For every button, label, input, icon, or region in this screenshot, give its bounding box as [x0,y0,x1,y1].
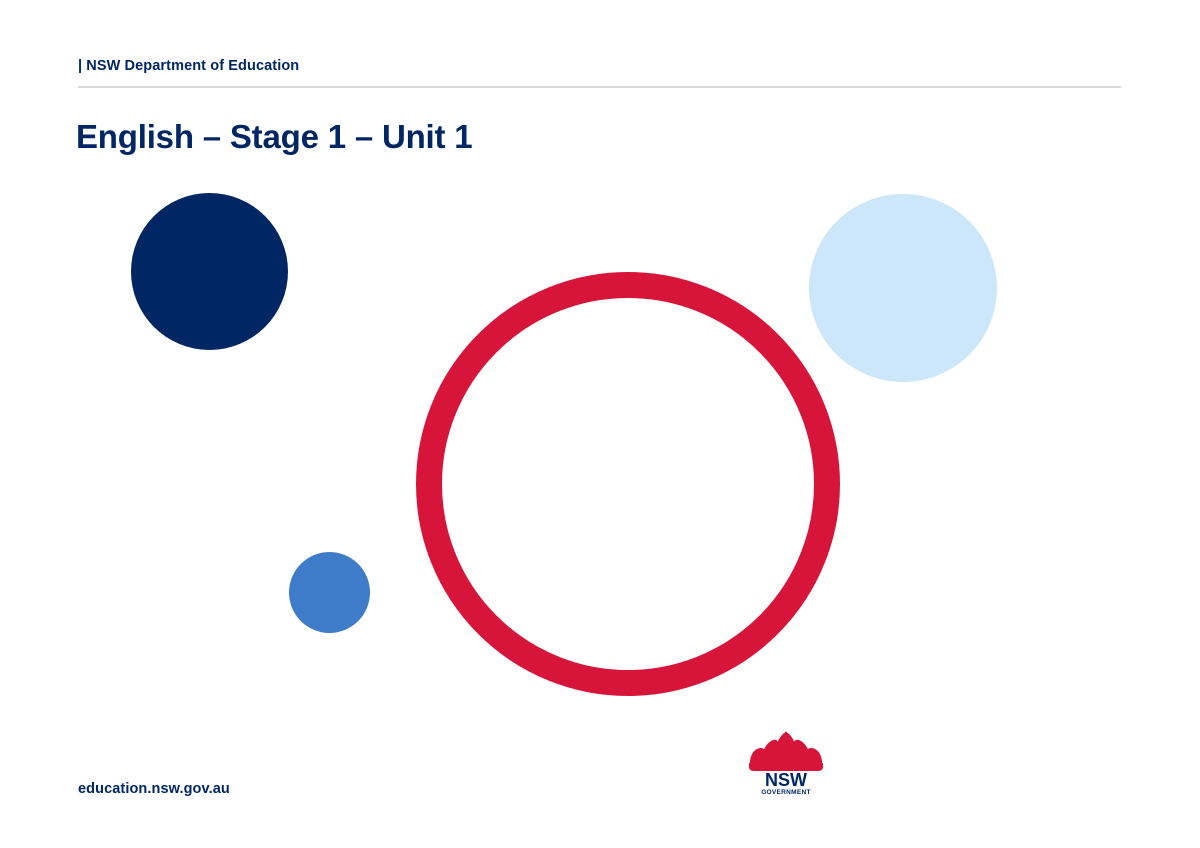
nsw-wordmark-text: NSW [765,770,807,790]
slide-canvas: | NSW Department of Education English – … [0,0,1200,848]
header-eyebrow: | NSW Department of Education [78,58,299,74]
footer-website-url: education.nsw.gov.au [78,781,230,797]
decorative-ring-red [416,272,840,696]
nsw-government-logo: NSW GOVERNMENT [748,730,824,796]
waratah-flower-icon [749,731,823,771]
decorative-circle-navy [131,193,288,350]
header-divider-rule [78,86,1121,88]
decorative-circle-light-blue [809,194,997,382]
page-title: English – Stage 1 – Unit 1 [76,118,472,156]
decorative-circle-blue [289,552,370,633]
government-tagline-text: GOVERNMENT [761,789,811,796]
